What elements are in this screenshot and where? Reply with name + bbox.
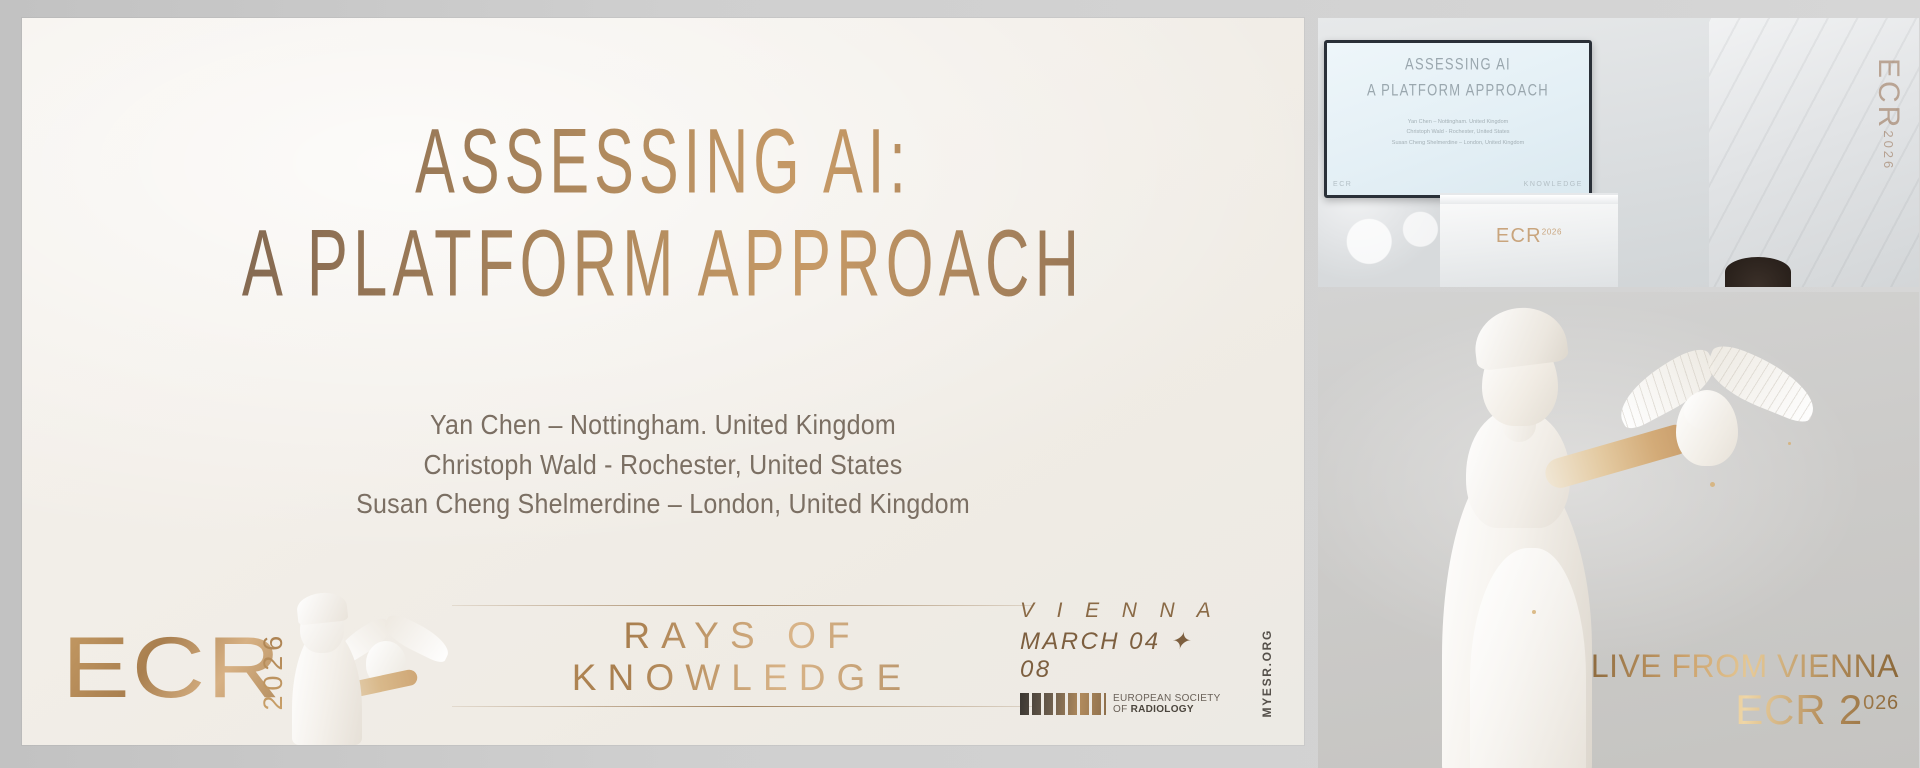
wall-sign-year: 2026 xyxy=(1881,130,1896,171)
screen-footer-tagline: KNOWLEDGE xyxy=(1524,181,1583,188)
screen-speaker-line: Christoph Wald - Rochester, United State… xyxy=(1327,127,1589,137)
event-details-block: V I E N N A MARCH 04 ✦ 08 EUROPEAN SOCIE… xyxy=(1020,599,1230,715)
esr-wordmark-icon xyxy=(1020,693,1106,715)
screen-title: ASSESSING AI A PLATFORM APPROACH xyxy=(1327,51,1589,102)
website-url: MYESR.ORG xyxy=(1260,629,1274,717)
esr-line-2-bold: RADIOLOGY xyxy=(1131,704,1194,715)
screen-title-line-1: ASSESSING AI xyxy=(1327,51,1589,76)
audience-head-silhouette xyxy=(1725,257,1791,287)
ecr-2026-sup: 026 xyxy=(1863,692,1899,714)
athena-owl-illustration xyxy=(270,593,460,745)
screen-speaker-line: Yan Chen – Nottingham. United Kingdom xyxy=(1327,117,1589,127)
lectern-logo-text: ECR xyxy=(1496,225,1542,247)
live-brand-panel[interactable]: LIVE FROM VIENNA ECR 2026 xyxy=(1318,292,1919,768)
tagline-rule-bottom xyxy=(452,706,1032,707)
event-city: V I E N N A xyxy=(1020,599,1230,623)
tagline-text: RAYS OF KNOWLEDGE xyxy=(452,606,1032,706)
ecr-logo-letters: ECR xyxy=(62,625,282,711)
screen-speaker-list: Yan Chen – Nottingham. United Kingdom Ch… xyxy=(1327,117,1589,148)
event-dates: MARCH 04 ✦ 08 xyxy=(1020,627,1230,684)
lectern-ecr-logo: ECR2026 xyxy=(1440,225,1618,248)
ecr-2026-label: ECR 2026 xyxy=(1591,686,1899,734)
livestream-viewer: ASSESSING AI: A PLATFORM APPROACH Yan Ch… xyxy=(0,0,1920,768)
speaker-line: Christoph Wald - Rochester, United State… xyxy=(22,443,1304,487)
athena-helmet xyxy=(296,590,349,625)
slide-title-block: ASSESSING AI: A PLATFORM APPROACH xyxy=(22,114,1304,282)
statue-helmet xyxy=(1471,303,1569,372)
esr-line-1: EUROPEAN SOCIETY xyxy=(1113,693,1221,704)
room-camera-feed[interactable]: ECR2026 ASSESSING AI A PLATFORM APPROACH… xyxy=(1318,18,1919,287)
slide-title-line-1: ASSESSING AI: xyxy=(48,114,1279,211)
screen-speaker-line: Susan Cheng Shelmerdine – London, United… xyxy=(1327,138,1589,148)
speaker-line: Yan Chen – Nottingham. United Kingdom xyxy=(22,404,1304,448)
wall-ecr-signage: ECR2026 xyxy=(1871,58,1905,171)
esr-line-2-prefix: OF xyxy=(1113,704,1131,715)
esr-society-name: EUROPEAN SOCIETY OF RADIOLOGY xyxy=(1113,693,1221,715)
ecr-2026-main: ECR 2 xyxy=(1735,686,1863,733)
sparkle-icon xyxy=(1788,442,1791,445)
live-from-vienna-label: LIVE FROM VIENNA xyxy=(1591,649,1899,684)
screen-footer-logo: ECR xyxy=(1333,181,1352,188)
slide-title-line-2: A PLATFORM APPROACH xyxy=(48,214,1279,314)
screen-title-line-2: A PLATFORM APPROACH xyxy=(1327,77,1589,102)
presentation-slide[interactable]: ASSESSING AI: A PLATFORM APPROACH Yan Ch… xyxy=(22,18,1304,745)
projection-screen: ASSESSING AI A PLATFORM APPROACH Yan Che… xyxy=(1324,40,1592,198)
speaker-line: Susan Cheng Shelmerdine – London, United… xyxy=(22,483,1304,527)
tagline-block: RAYS OF KNOWLEDGE xyxy=(452,605,1032,707)
live-brand-text: LIVE FROM VIENNA ECR 2026 xyxy=(1591,649,1899,734)
slide-speaker-list: Yan Chen – Nottingham. United Kingdom Ch… xyxy=(22,406,1304,525)
esr-logo: EUROPEAN SOCIETY OF RADIOLOGY xyxy=(1020,693,1230,715)
esr-line-2: OF RADIOLOGY xyxy=(1113,704,1221,715)
lectern: ECR2026 xyxy=(1440,193,1618,287)
screen-footer: ECR KNOWLEDGE xyxy=(1333,181,1583,188)
lectern-logo-year: 2026 xyxy=(1542,227,1562,236)
sparkle-icon xyxy=(1532,610,1536,614)
owl-face xyxy=(1684,392,1730,430)
wall-sign-text: ECR xyxy=(1872,58,1905,130)
slide-footer: ECR 2026 RAYS OF KNOWLEDGE V I E N N A M… xyxy=(22,585,1304,745)
sparkle-icon xyxy=(1710,482,1715,487)
flying-owl xyxy=(1618,308,1828,488)
